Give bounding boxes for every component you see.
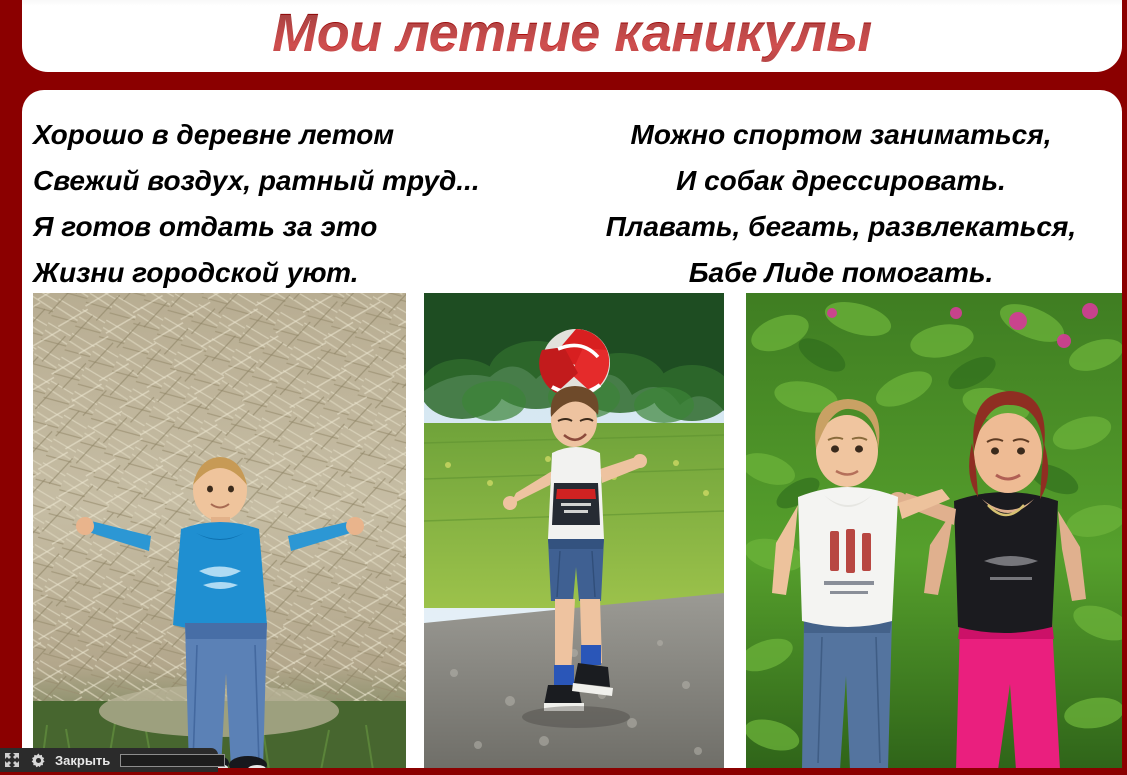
photo-boy-by-haystack [33,293,406,770]
poem-line: Свежий воздух, ратный труд... [33,158,572,204]
photo-row [22,293,1122,770]
photo-boy-heading-football-image [424,293,724,770]
poem-line: И собак дрессировать. [572,158,1110,204]
poem-block: Хорошо в деревне летом Свежий воздух, ра… [22,90,1122,290]
photo-boy-with-grandmother [746,293,1122,770]
poem-line: Бабе Лиде помогать. [572,250,1110,296]
gear-icon[interactable] [29,751,47,769]
page-title: Мои летние каникулы [272,6,871,72]
poem-line: Можно спортом заниматься, [572,112,1110,158]
photo-boy-with-grandmother-image [746,293,1122,770]
collapse-arrows-icon[interactable] [3,751,21,769]
photo-boy-heading-football [424,293,724,770]
presentation-slide: Мои летние каникулы Хорошо в деревне лет… [0,0,1127,775]
player-toolbar[interactable]: Закрыть [0,748,218,772]
poem-line: Хорошо в деревне летом [33,112,572,158]
playback-progress-bar[interactable] [120,754,225,767]
slide-title-box: Мои летние каникулы [22,0,1122,72]
close-label[interactable]: Закрыть [55,753,110,768]
slide-content-box: Хорошо в деревне летом Свежий воздух, ра… [22,90,1122,770]
poem-column-left: Хорошо в деревне летом Свежий воздух, ра… [22,90,572,290]
poem-column-right: Можно спортом заниматься, И собак дресси… [572,90,1122,290]
poem-line: Жизни городской уют. [33,250,572,296]
photo-boy-by-haystack-image [33,293,406,770]
poem-line: Плавать, бегать, развлекаться, [572,204,1110,250]
poem-line: Я готов отдать за это [33,204,572,250]
